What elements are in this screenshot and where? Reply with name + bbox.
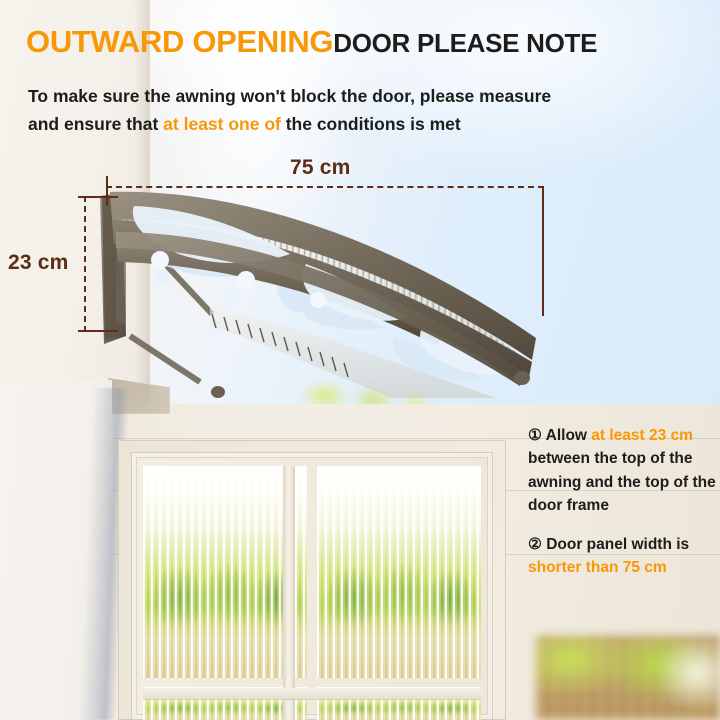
door-rail [143,688,481,699]
door-leaf-right [317,466,481,720]
condition-marker: ② [528,536,542,553]
conditions-list: ① Allow at least 23 cm between the top o… [528,424,718,596]
dimension-tick-bottom [78,330,118,332]
subtitle-line-1: To make sure the awning won't block the … [28,82,668,110]
condition-accent-1: at least [591,427,644,444]
subtitle-line-2: and ensure that at least one of the cond… [28,110,668,138]
awning-product [92,186,552,406]
dimension-tick-top [78,196,118,198]
dimension-tick-left [106,176,108,206]
subtitle-line-2-a: and ensure that [28,114,163,134]
condition-item-1: ① Allow at least 23 cm between the top o… [528,424,718,517]
condition-accent-2: 23 cm [649,427,693,444]
dimension-label-width: 75 cm [290,156,351,180]
condition-item-2: ② Door panel width is shorter than 75 cm [528,533,718,580]
subtitle: To make sure the awning won't block the … [28,82,668,139]
infographic-canvas: 75 cm 23 cm OUTWARD OPENINGDOOR PLEASE N… [0,0,720,720]
condition-accent-1: shorter than [528,559,618,576]
dimension-line-width [106,186,544,188]
condition-text-c: between the top of the awning and the to… [528,450,716,514]
title-accent: OUTWARD OPENING [26,24,333,59]
glass-panel [317,466,481,678]
door-mullion [283,466,295,720]
title-rest: DOOR PLEASE NOTE [333,28,597,58]
condition-text-a: Allow [542,427,591,444]
door-panels [143,466,481,720]
page-title: OUTWARD OPENINGDOOR PLEASE NOTE [26,24,597,60]
subtitle-line-2-b: the conditions is met [281,114,461,134]
awning-end-cap [211,386,225,398]
dimension-line-height [84,196,86,332]
dimension-tick-right [542,186,544,316]
garden-backdrop [536,636,720,720]
condition-marker: ① [528,427,542,444]
condition-text-a: Door panel width is [542,536,689,553]
subtitle-line-2-accent: at least one of [163,114,281,134]
dimension-label-height: 23 cm [8,251,69,275]
condition-accent-2: 75 cm [623,559,667,576]
